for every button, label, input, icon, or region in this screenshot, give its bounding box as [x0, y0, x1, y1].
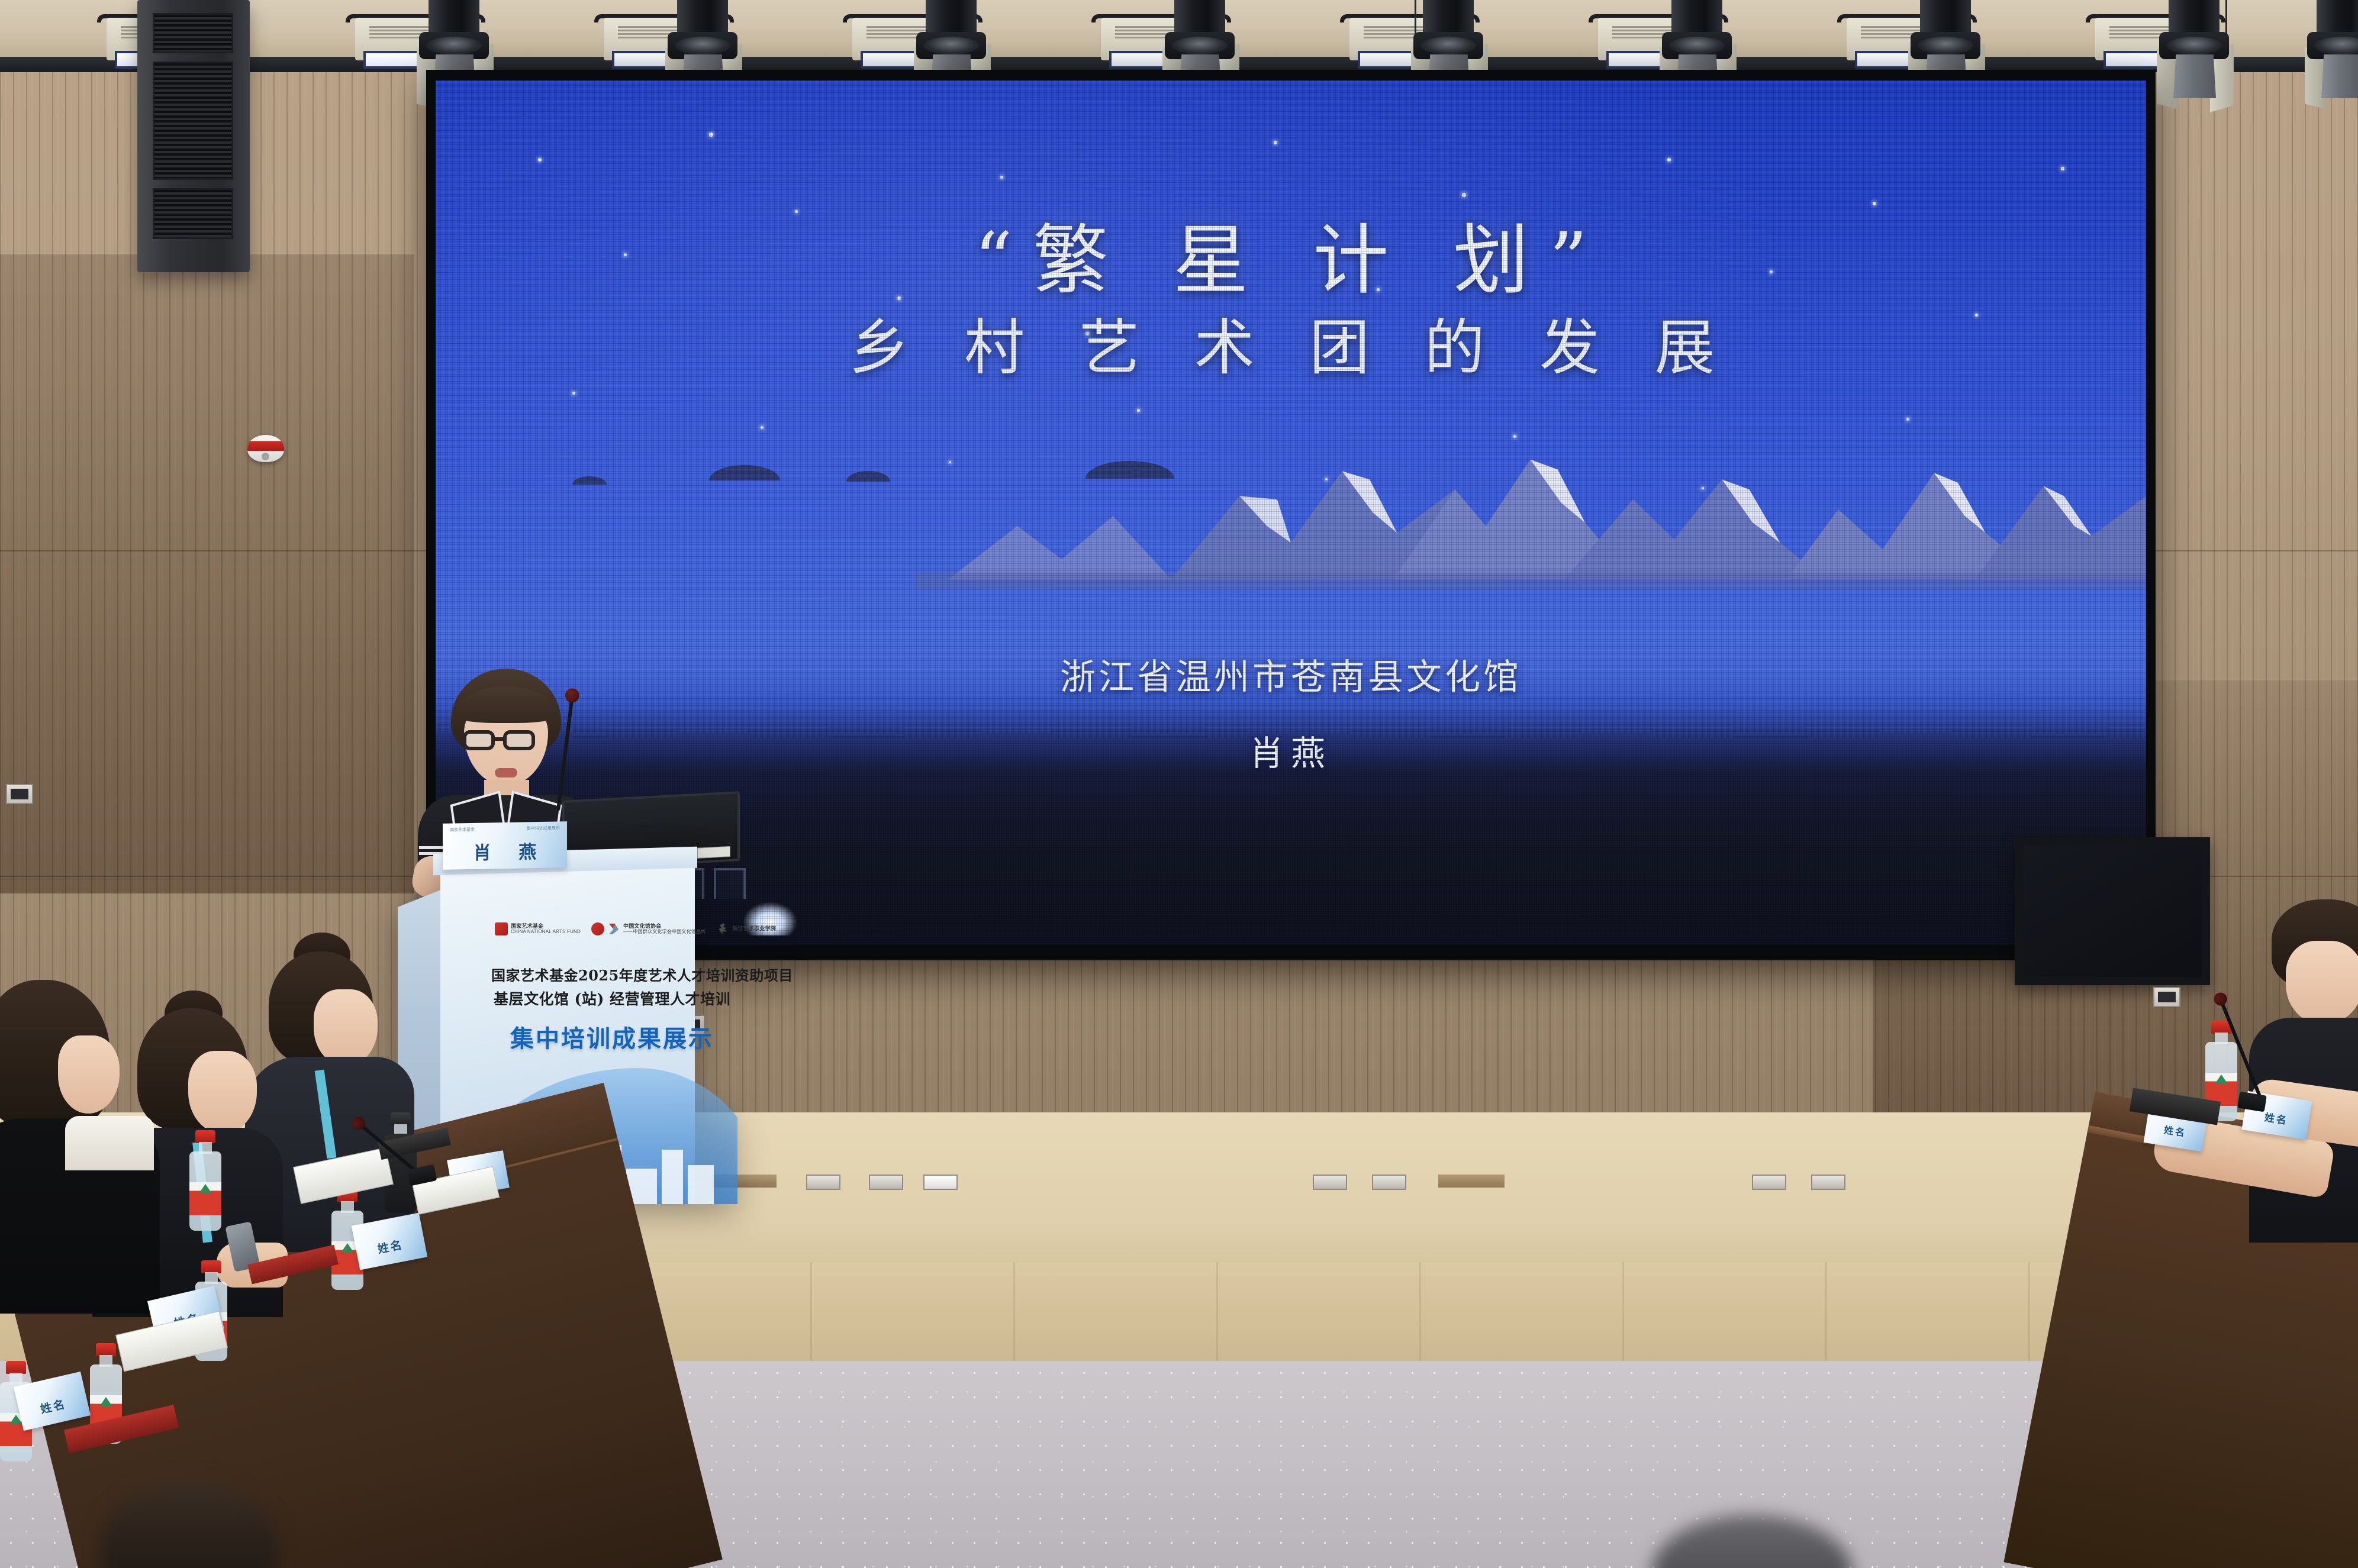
moving-head-light — [2291, 0, 2358, 86]
national-arts-fund-logo: 国家艺术基金CHINA NATIONAL ARTS FUND — [495, 922, 581, 935]
wall-plate — [2153, 987, 2180, 1007]
wall-monitor — [2015, 837, 2210, 985]
alarm-strobe-icon — [247, 435, 284, 462]
presenter-nameplate: 国家艺术基金 集中培训成果展示 肖 燕 — [443, 821, 567, 870]
floor-box — [1372, 1175, 1406, 1190]
wall-plate — [6, 784, 33, 804]
screenshot-root: “繁 星 计 划” 乡 村 艺 术 团 的 发 展 浙江省温州市苍南县文化馆 肖… — [0, 0, 2358, 1568]
floor-box — [869, 1175, 903, 1190]
floor-box — [1752, 1175, 1786, 1190]
floor-box — [923, 1175, 958, 1190]
white-top — [65, 1116, 154, 1170]
podium-logo-row: 国家艺术基金CHINA NATIONAL ARTS FUND 中国文化馆协会——… — [495, 922, 727, 935]
floor-slot — [1438, 1175, 1505, 1188]
floor-box — [1313, 1175, 1347, 1190]
nameplate-name: 肖 燕 — [443, 837, 567, 865]
banner-headline: 集中培训成果展示 — [491, 1019, 733, 1054]
floor-box — [1811, 1175, 1845, 1190]
wall-speaker — [137, 0, 250, 272]
slide-presenter: 肖燕 — [436, 725, 2146, 775]
water-bottle[interactable] — [189, 1130, 221, 1231]
banner-line-2: 基层文化馆 (站) 经营管理人才培训 — [491, 988, 733, 1009]
floor-box — [806, 1175, 840, 1190]
slide-title: “繁 星 计 划” — [436, 199, 2146, 308]
glasses-icon — [463, 730, 495, 750]
moving-head-light — [2143, 0, 2244, 86]
glasses-icon — [503, 730, 535, 750]
wall-shadow-left — [0, 254, 414, 893]
zhejiang-vocational-academy-logo: 浙江艺术职业学院 — [716, 922, 776, 935]
slide-organization: 浙江省温州市苍南县文化馆 — [436, 649, 2146, 700]
audience-person — [0, 970, 166, 1302]
banner-line-1: 国家艺术基金2025年度艺术人才培训资助项目 — [491, 964, 733, 985]
slide-subtitle: 乡 村 艺 术 团 的 发 展 — [436, 299, 2146, 386]
culture-center-association-logo: 中国文化馆协会——中国群众文化学会中国文化馆品牌 — [591, 922, 706, 935]
